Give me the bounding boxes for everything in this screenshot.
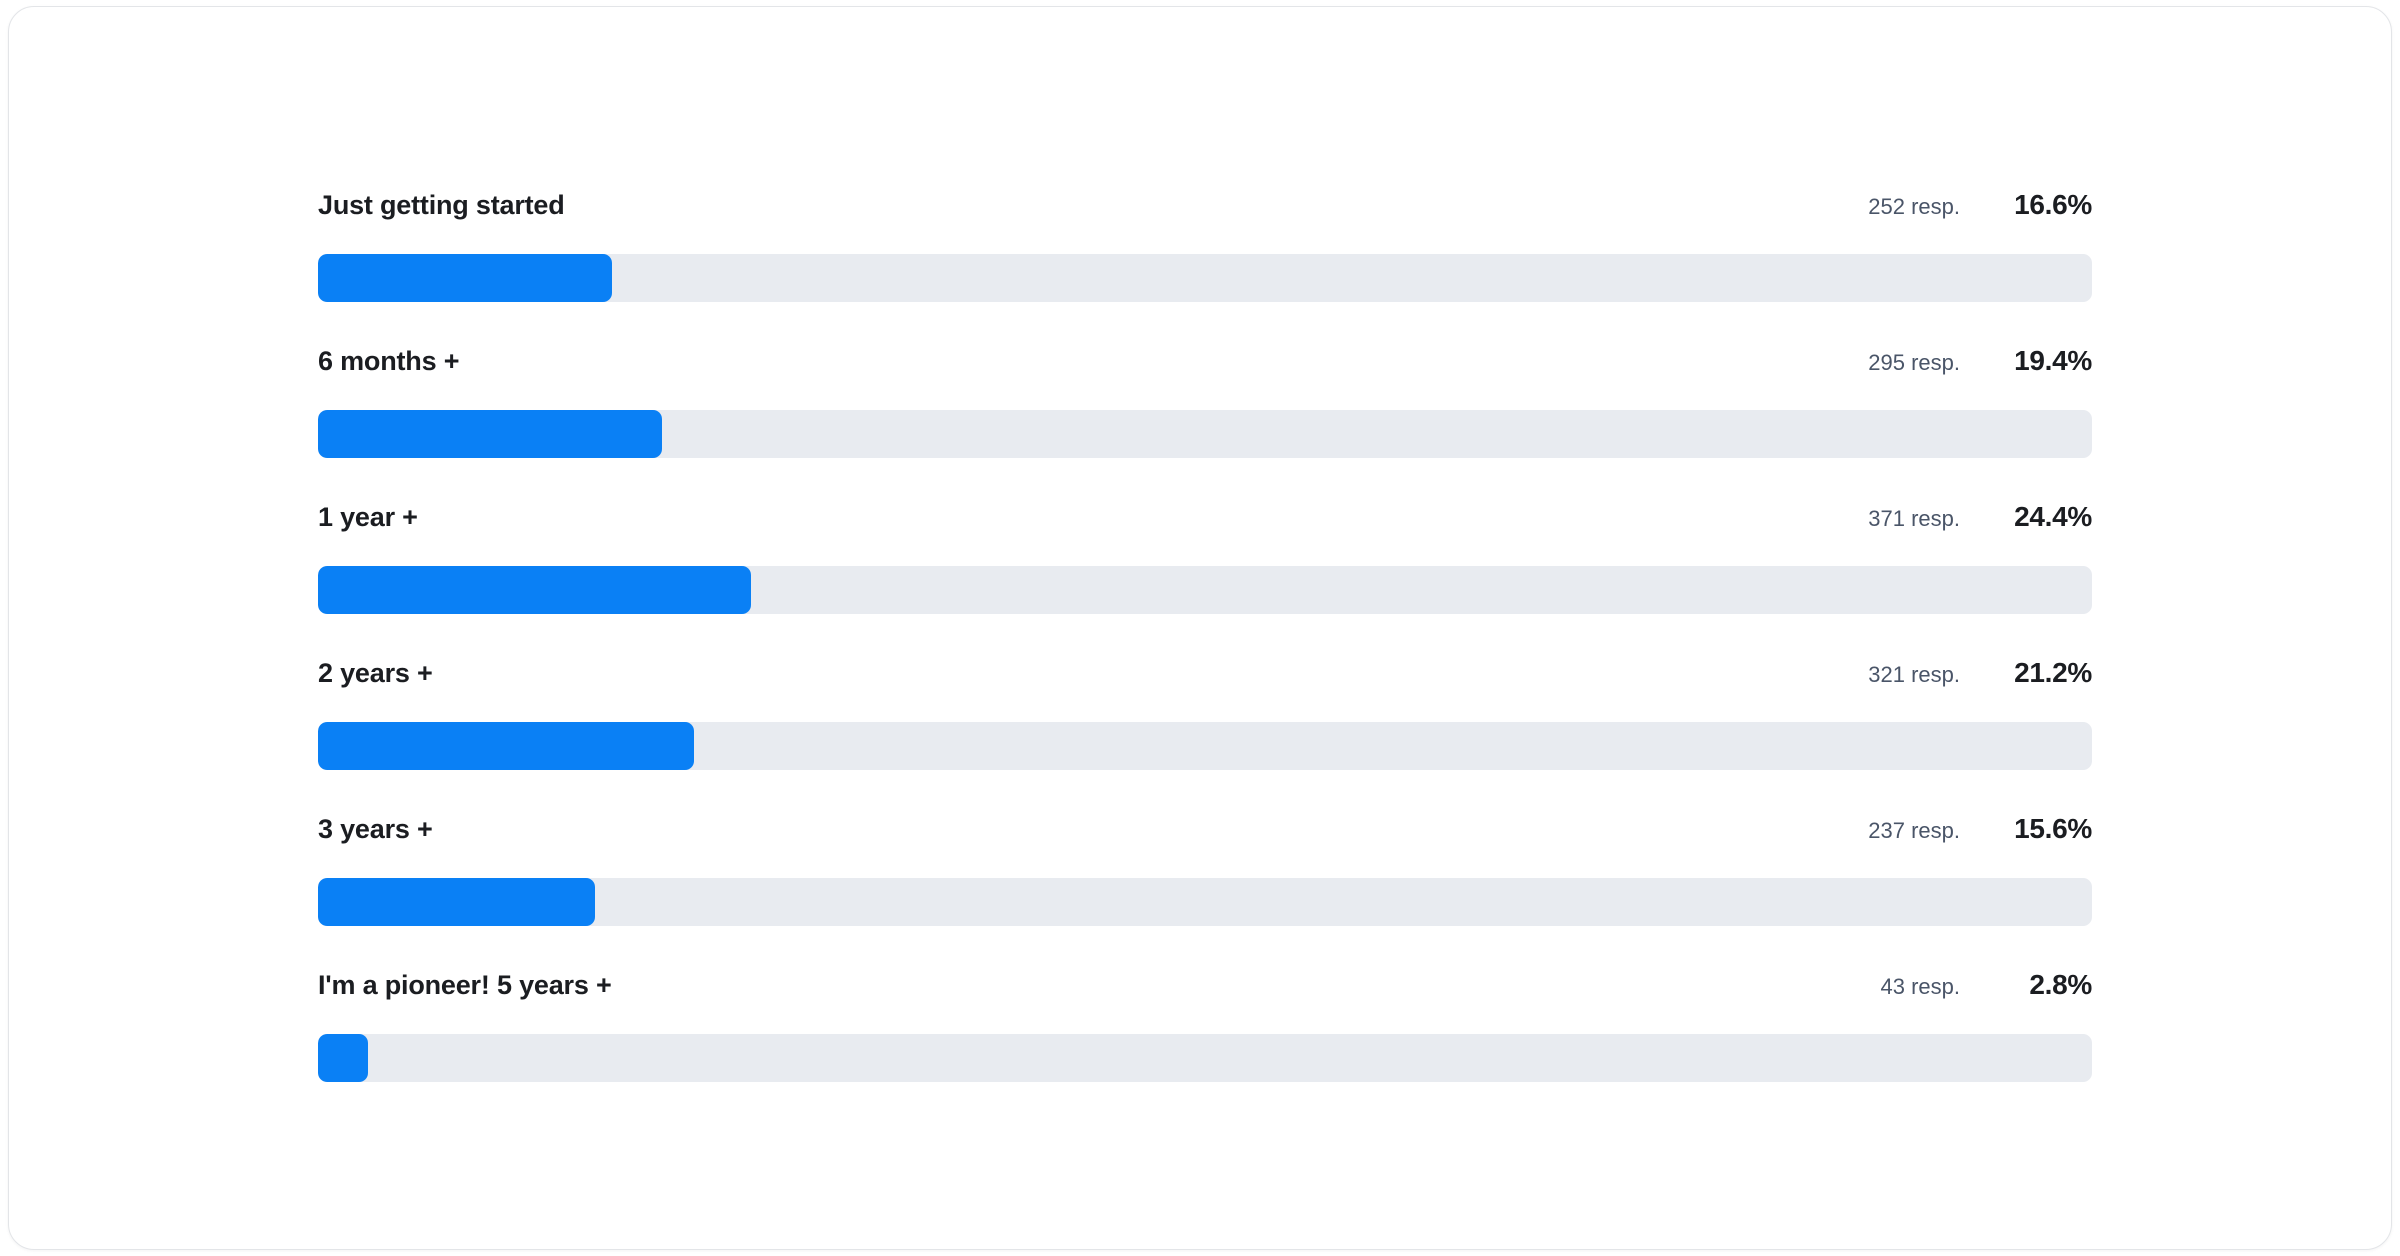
poll-result-row: Just getting started252 resp.16.6%: [318, 177, 2092, 333]
poll-response-count: 295 resp.: [1868, 335, 1982, 391]
poll-option-label: Just getting started: [318, 177, 565, 233]
poll-option-label: 2 years +: [318, 645, 433, 701]
poll-results-card: Just getting started252 resp.16.6%6 mont…: [8, 6, 2392, 1250]
poll-percentage-value: 24.4%: [1982, 489, 2092, 545]
poll-response-count: 252 resp.: [1868, 179, 1982, 235]
poll-option-label: 3 years +: [318, 801, 433, 857]
poll-option-label: 6 months +: [318, 333, 459, 389]
poll-row-header: 2 years +321 resp.21.2%: [318, 645, 2092, 701]
poll-row-header: Just getting started252 resp.16.6%: [318, 177, 2092, 233]
poll-bar-track: [318, 410, 2092, 458]
poll-bar-fill: [318, 722, 694, 770]
poll-response-count: 43 resp.: [1881, 959, 1983, 1015]
poll-bar-track: [318, 566, 2092, 614]
poll-bar-track: [318, 1034, 2092, 1082]
poll-bar-fill: [318, 566, 751, 614]
poll-response-count: 371 resp.: [1868, 491, 1982, 547]
poll-result-row: I'm a pioneer! 5 years +43 resp.2.8%: [318, 957, 2092, 1113]
poll-response-count: 321 resp.: [1868, 647, 1982, 703]
poll-percentage-value: 19.4%: [1982, 333, 2092, 389]
poll-result-row: 6 months +295 resp.19.4%: [318, 333, 2092, 489]
poll-percentage-value: 21.2%: [1982, 645, 2092, 701]
poll-percentage-value: 15.6%: [1982, 801, 2092, 857]
poll-option-label: 1 year +: [318, 489, 418, 545]
poll-bar-fill: [318, 254, 612, 302]
poll-bar-track: [318, 878, 2092, 926]
poll-result-row: 3 years +237 resp.15.6%: [318, 801, 2092, 957]
poll-row-header: 6 months +295 resp.19.4%: [318, 333, 2092, 389]
poll-percentage-value: 16.6%: [1982, 177, 2092, 233]
poll-bar-track: [318, 722, 2092, 770]
poll-bar-fill: [318, 1034, 368, 1082]
poll-row-header: 3 years +237 resp.15.6%: [318, 801, 2092, 857]
poll-results-list: Just getting started252 resp.16.6%6 mont…: [318, 177, 2092, 1113]
poll-result-row: 2 years +321 resp.21.2%: [318, 645, 2092, 801]
poll-bar-fill: [318, 878, 595, 926]
poll-response-count: 237 resp.: [1868, 803, 1982, 859]
poll-bar-track: [318, 254, 2092, 302]
poll-bar-fill: [318, 410, 662, 458]
poll-row-header: I'm a pioneer! 5 years +43 resp.2.8%: [318, 957, 2092, 1013]
poll-option-label: I'm a pioneer! 5 years +: [318, 957, 612, 1013]
poll-percentage-value: 2.8%: [1982, 957, 2092, 1013]
poll-row-header: 1 year +371 resp.24.4%: [318, 489, 2092, 545]
poll-result-row: 1 year +371 resp.24.4%: [318, 489, 2092, 645]
